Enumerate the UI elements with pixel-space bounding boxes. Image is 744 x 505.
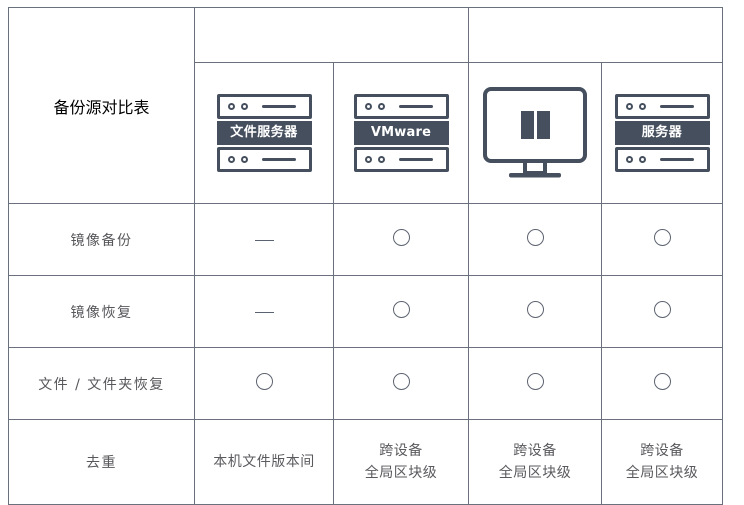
mark-dash-icon xyxy=(255,312,274,314)
server-led-icon xyxy=(626,103,633,110)
corner-cell: 备份源对比表 xyxy=(9,8,195,204)
cell-image-backup-file-server xyxy=(195,204,334,276)
row-label-deduplication: 去重 xyxy=(9,420,195,505)
server-led-icon xyxy=(378,156,385,163)
mark-circle-icon xyxy=(393,301,410,318)
cell-image-backup-desktop xyxy=(469,204,602,276)
corner-label: 备份源对比表 xyxy=(53,98,149,117)
server-icon: VMware xyxy=(354,94,449,172)
server-led-icon xyxy=(228,103,235,110)
cell-value-text: 跨设备 全局区块级 xyxy=(626,443,699,481)
cell-dedup-server: 跨设备 全局区块级 xyxy=(602,420,723,505)
mark-circle-icon xyxy=(654,229,671,246)
backup-source-comparison-table: 备份源对比表 无代理 代理程序 xyxy=(8,7,723,505)
server-slot-icon xyxy=(660,158,694,161)
row-label-file-folder-restore: 文件 / 文件夹恢复 xyxy=(9,348,195,420)
cell-image-restore-file-server xyxy=(195,276,334,348)
mark-circle-icon xyxy=(654,301,671,318)
source-tag-label: 服务器 xyxy=(615,121,710,145)
mark-circle-icon xyxy=(527,301,544,318)
server-led-icon xyxy=(365,156,372,163)
group-header-agentless-label: 无代理 xyxy=(308,27,356,45)
server-led-icon xyxy=(365,103,372,110)
server-led-icon xyxy=(639,103,646,110)
server-icon-top-bay xyxy=(217,94,312,119)
cell-dedup-desktop: 跨设备 全局区块级 xyxy=(469,420,602,505)
cell-image-restore-desktop xyxy=(469,276,602,348)
table-row: 去重 本机文件版本间 跨设备 全局区块级 跨设备 全局区块级 跨设备 全局区块级 xyxy=(9,420,723,505)
table-row: 镜像备份 xyxy=(9,204,723,276)
row-label-text: 镜像恢复 xyxy=(71,305,133,321)
source-cell-server: 服务器 xyxy=(602,63,723,204)
server-icon-file-server-wrap: 文件服务器 xyxy=(195,63,333,203)
row-label-image-backup: 镜像备份 xyxy=(9,204,195,276)
server-slot-icon xyxy=(262,158,296,161)
cell-file-restore-server xyxy=(602,348,723,420)
server-icon-server-wrap: 服务器 xyxy=(602,63,722,203)
group-header-agent: 代理程序 xyxy=(469,8,723,63)
table-row: 文件 / 文件夹恢复 xyxy=(9,348,723,420)
cell-image-backup-server xyxy=(602,204,723,276)
group-header-agent-label: 代理程序 xyxy=(564,27,628,45)
server-led-icon xyxy=(639,156,646,163)
source-tag-label: VMware xyxy=(354,121,449,145)
mark-circle-icon xyxy=(393,229,410,246)
cell-value-text: 跨设备 全局区块级 xyxy=(499,443,572,481)
cell-file-restore-vmware xyxy=(334,348,469,420)
server-slot-icon xyxy=(660,105,694,108)
monitor-icon-wrap xyxy=(469,63,601,203)
mark-circle-icon xyxy=(527,373,544,390)
source-cell-file-server: 文件服务器 xyxy=(195,63,334,204)
row-label-image-restore: 镜像恢复 xyxy=(9,276,195,348)
server-led-icon xyxy=(228,156,235,163)
cell-file-restore-file-server xyxy=(195,348,334,420)
server-icon-vmware-wrap: VMware xyxy=(334,63,468,203)
server-icon: 文件服务器 xyxy=(217,94,312,172)
group-header-row: 备份源对比表 无代理 代理程序 xyxy=(9,8,723,63)
server-slot-icon xyxy=(262,105,296,108)
server-icon-bottom-bay xyxy=(217,147,312,172)
cell-value-text: 跨设备 全局区块级 xyxy=(365,443,438,481)
monitor-icon xyxy=(479,83,591,183)
cell-file-restore-desktop xyxy=(469,348,602,420)
mark-circle-icon xyxy=(256,373,273,390)
cell-dedup-vmware: 跨设备 全局区块级 xyxy=(334,420,469,505)
row-label-text: 镜像备份 xyxy=(71,233,133,249)
row-label-text: 去重 xyxy=(86,455,117,471)
server-icon-top-bay xyxy=(615,94,710,119)
cell-value-text: 本机文件版本间 xyxy=(213,454,315,470)
server-icon-bottom-bay xyxy=(615,147,710,172)
table-row: 镜像恢复 xyxy=(9,276,723,348)
mark-circle-icon xyxy=(527,229,544,246)
server-led-icon xyxy=(241,156,248,163)
server-slot-icon xyxy=(399,158,433,161)
cell-image-backup-vmware xyxy=(334,204,469,276)
source-cell-desktop xyxy=(469,63,602,204)
mark-circle-icon xyxy=(654,373,671,390)
mark-circle-icon xyxy=(393,373,410,390)
server-icon-top-bay xyxy=(354,94,449,119)
group-header-agentless: 无代理 xyxy=(195,8,469,63)
mark-dash-icon xyxy=(255,240,274,242)
server-led-icon xyxy=(241,103,248,110)
comparison-table-figure: 备份源对比表 无代理 代理程序 xyxy=(0,7,744,505)
source-cell-vmware: VMware xyxy=(334,63,469,204)
server-led-icon xyxy=(626,156,633,163)
cell-image-restore-vmware xyxy=(334,276,469,348)
server-icon: 服务器 xyxy=(615,94,710,172)
source-tag-label: 文件服务器 xyxy=(217,121,312,145)
server-icon-bottom-bay xyxy=(354,147,449,172)
server-led-icon xyxy=(378,103,385,110)
cell-image-restore-server xyxy=(602,276,723,348)
cell-dedup-file-server: 本机文件版本间 xyxy=(195,420,334,505)
row-label-text: 文件 / 文件夹恢复 xyxy=(38,377,165,393)
server-slot-icon xyxy=(399,105,433,108)
